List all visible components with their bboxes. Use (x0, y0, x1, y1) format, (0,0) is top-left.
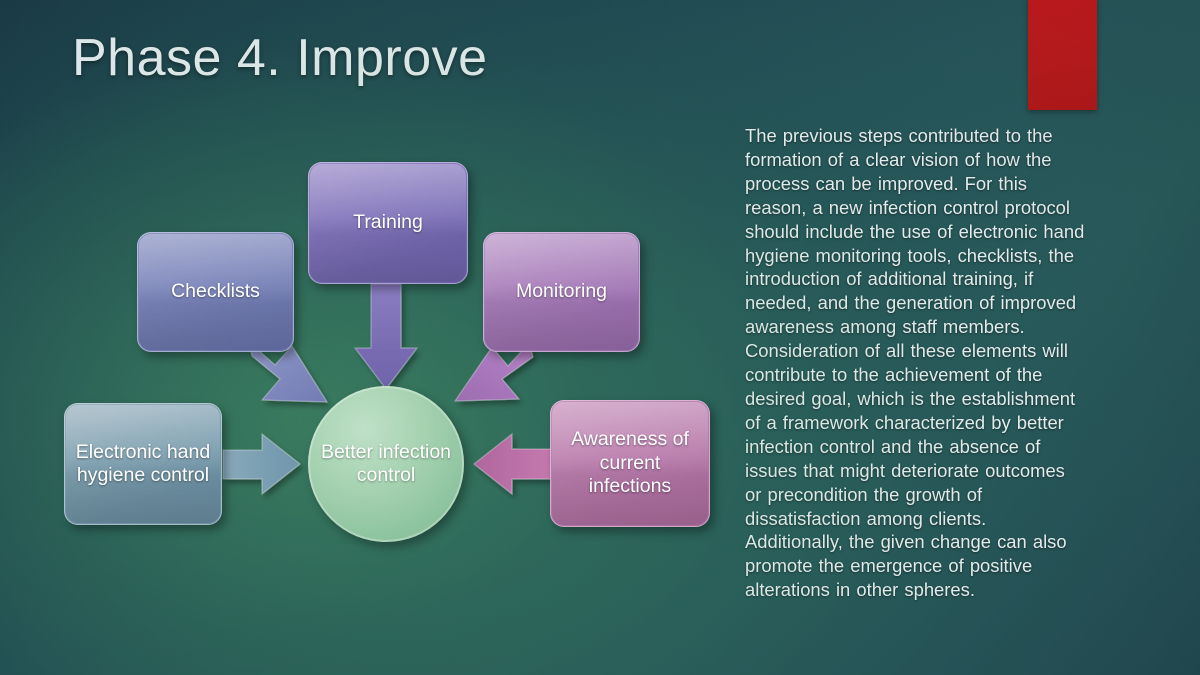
accent-bar (1028, 0, 1097, 110)
node-checklists-label: Checklists (163, 280, 268, 304)
arrow-electronic-to-center (223, 434, 300, 494)
node-electronic-label: Electronic hand hygiene control (64, 441, 222, 488)
node-center-better-infection-control[interactable]: Better infection control (308, 386, 464, 542)
node-checklists[interactable]: Checklists (137, 232, 294, 352)
node-center-label: Better infection control (308, 441, 464, 488)
arrow-training-to-center (355, 284, 417, 389)
node-awareness[interactable]: Awareness of current infections (550, 400, 710, 527)
arrow-awareness-to-center (474, 434, 551, 494)
node-monitoring-label: Monitoring (508, 280, 615, 304)
node-awareness-label: Awareness of current infections (550, 428, 710, 499)
slide-canvas: Phase 4. Improve The previous steps cont… (0, 0, 1200, 675)
node-training[interactable]: Training (308, 162, 468, 284)
body-paragraph: The previous steps contributed to the fo… (745, 124, 1085, 602)
process-diagram: Checklists Training Monitoring Awareness… (0, 0, 745, 675)
node-training-label: Training (345, 211, 431, 235)
node-electronic[interactable]: Electronic hand hygiene control (64, 403, 222, 525)
node-monitoring[interactable]: Monitoring (483, 232, 640, 352)
